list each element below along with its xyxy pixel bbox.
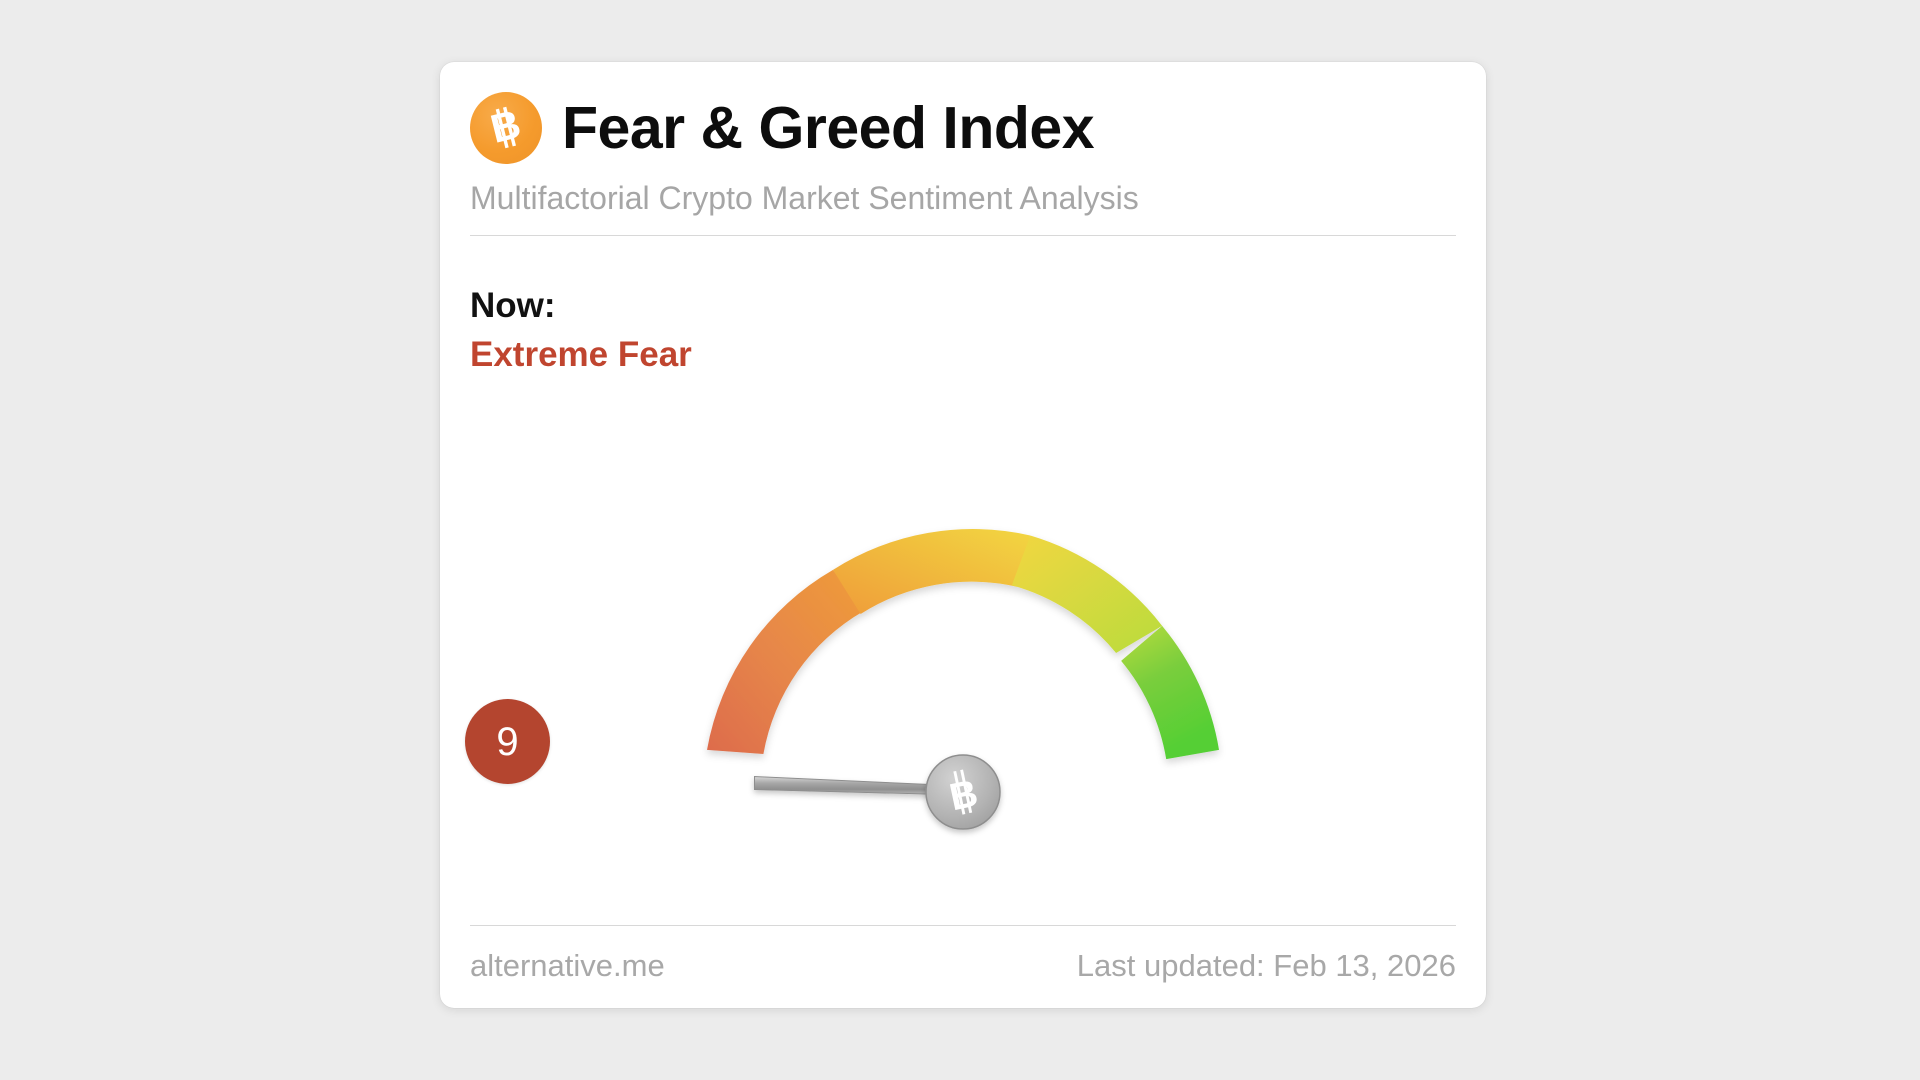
footer-row: alternative.me Last updated: Feb 13, 202… [470, 948, 1456, 984]
source-link[interactable]: alternative.me [470, 948, 665, 984]
screen-root: B Fear & Greed Index Multifactorial Cryp… [0, 0, 1920, 1080]
gauge-value-badge: 9 [465, 699, 550, 784]
title-row: B Fear & Greed Index [470, 88, 1456, 168]
fear-greed-card: B Fear & Greed Index Multifactorial Cryp… [440, 62, 1486, 1008]
header-divider [470, 235, 1456, 236]
gauge-segment-fear [833, 529, 1030, 614]
bitcoin-needle-hub-icon: B [926, 755, 1000, 829]
gauge-arc [707, 529, 1219, 759]
card-header: B Fear & Greed Index Multifactorial Cryp… [470, 88, 1456, 236]
fear-greed-gauge: B 9 [440, 324, 1486, 884]
gauge-value: 9 [496, 722, 518, 762]
page-subtitle: Multifactorial Crypto Market Sentiment A… [470, 180, 1456, 217]
gauge-segment-extreme-fear [707, 570, 863, 754]
card-footer: alternative.me Last updated: Feb 13, 202… [470, 925, 1456, 984]
page-title: Fear & Greed Index [562, 99, 1094, 158]
last-updated-label: Last updated: Feb 13, 2026 [1077, 948, 1456, 984]
gauge-segment-greed [1012, 535, 1162, 653]
footer-divider [470, 925, 1456, 926]
gauge-segment-extreme-greed [1121, 626, 1219, 759]
now-label: Now: [470, 284, 692, 328]
bitcoin-icon: B [470, 92, 542, 164]
gauge-svg: B [440, 324, 1486, 884]
